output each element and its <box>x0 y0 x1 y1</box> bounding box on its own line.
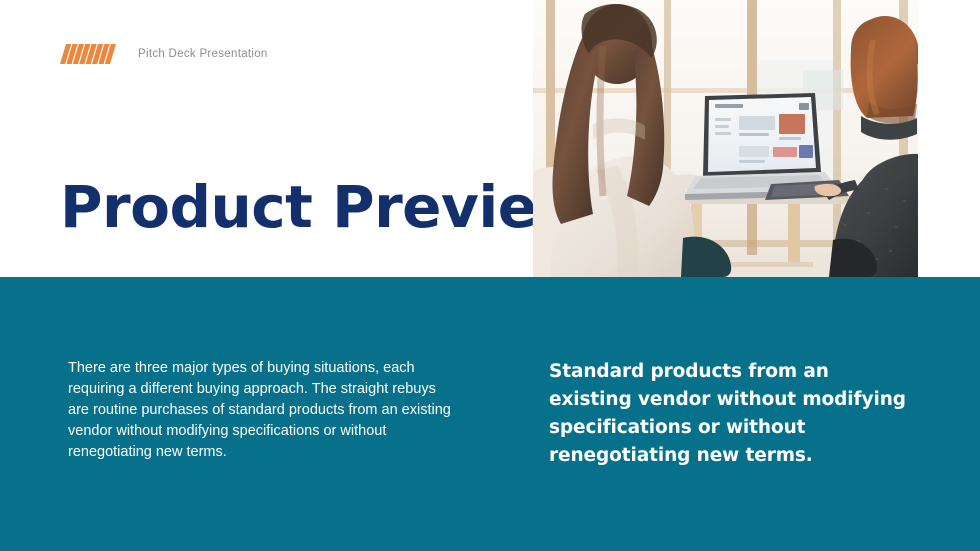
page-title: Product Preview <box>60 178 590 236</box>
hero-photo <box>533 0 918 277</box>
diagonal-stripes-logo-icon <box>60 44 116 64</box>
brand-header: Pitch Deck Presentation <box>60 42 268 66</box>
body-paragraph: There are three major types of buying si… <box>68 358 458 463</box>
highlight-paragraph: Standard products from an existing vendo… <box>549 358 914 470</box>
brand-label: Pitch Deck Presentation <box>138 44 268 64</box>
presentation-slide: Pitch Deck Presentation Product Preview <box>0 0 980 551</box>
